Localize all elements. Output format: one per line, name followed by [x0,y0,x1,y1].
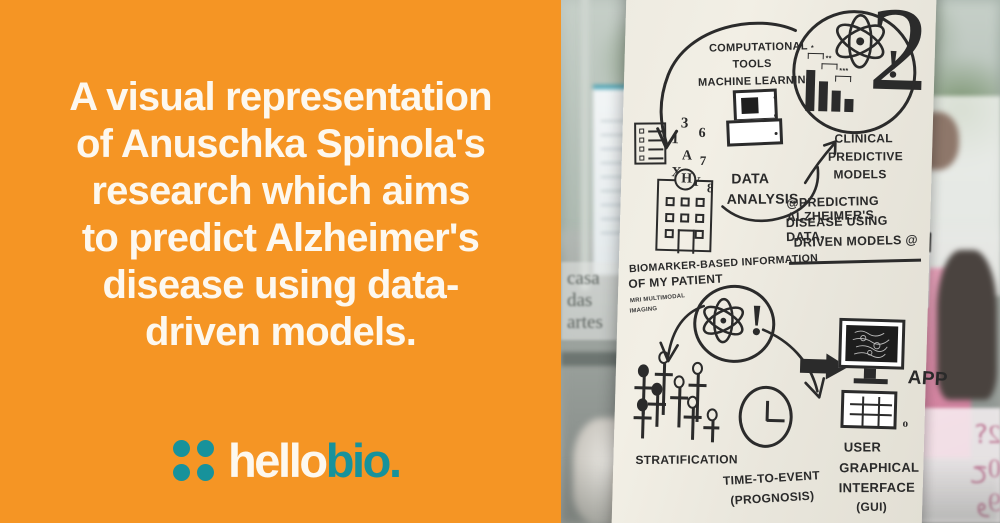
glyph-1: 1 [671,131,679,148]
bar-3 [831,91,841,112]
label-models: MODELS [833,168,886,182]
left-orange-panel: A visual representation of Anuschka Spin… [0,0,561,523]
four-dot-grid-icon [173,440,214,481]
label-computational-tools-line2: TOOLS [732,58,771,71]
glyph-6: 6 [698,126,705,142]
conference-photograph: casadasartes ؟2ح0و9 2 COMPUTATIONAL TO [561,0,1000,523]
laptop-dot-2 [774,114,777,117]
laptop-dot-3 [775,132,778,135]
glyph-A: A [682,148,693,164]
checklist-icon [634,122,666,164]
hellobio-logo[interactable]: hellobio. [173,432,400,488]
headline-line-2: of Anuschka Spinola's [18,121,543,168]
bar-1 [805,70,815,111]
logo-dot-2 [197,440,214,457]
label-prognosis: (PROGNOSIS) [730,490,815,508]
laptop-dot-1 [774,96,777,99]
tablet-icon [840,390,897,430]
label-gui-graphical: GRAPHICAL [839,461,919,476]
label-biomarker-line2: OF MY PATIENT [628,272,723,291]
label-computational-tools-line1: COMPUTATIONAL [709,40,808,55]
significance-bracket-3 [835,76,851,82]
label-stratification: STRATIFICATION [635,453,738,467]
window-frame [581,0,589,290]
label-gui-user: USER [844,440,881,455]
flipchart-poster: 2 COMPUTATIONAL TOOLS MACHINE LEARNING [611,0,936,523]
bar-4 [844,99,853,112]
social-card: A visual representation of Anuschka Spin… [0,0,1000,523]
label-biomarker-line1: BIOMARKER-BASED INFORMATION [629,253,819,276]
logo-dot-3 [173,464,190,481]
glyph-7: 7 [700,153,707,169]
monitor-base [854,378,888,384]
atom-icon [830,12,890,72]
glyph-3: 3 [681,115,689,132]
label-predictive: PREDICTIVE [828,150,903,164]
tablet-dot-glyph: o [902,418,908,430]
logo-text-hello: hello [228,437,326,484]
hospital-h-letter: H [681,171,692,187]
headline-line-1: A visual representation [18,74,543,121]
page-title: A visual representation of Anuschka Spin… [18,74,543,356]
logo-dot-4 [197,464,214,481]
monitor-icon [838,318,905,370]
label-app: APP [907,367,948,391]
label-gui-interface: INTERFACE [839,481,915,496]
clock-icon [738,385,794,448]
logo-text-bio: bio. [326,437,400,484]
label-biomarker-subnote-line2: IMAGING [629,305,657,316]
headline-line-3: research which aims [18,168,543,215]
bar-2 [818,81,828,111]
significance-mark-1: * [811,45,814,53]
brain-scan-image [845,325,898,362]
label-gui-abbrev: (GUI) [856,501,887,515]
logo-dot-1 [173,440,190,457]
label-time-to-event: TIME-TO-EVENT [723,469,821,488]
exclamation-icon: ! [886,47,900,81]
significance-bracket-1 [808,53,824,59]
laptop-icon [733,89,778,123]
monitor-neck [864,369,876,379]
curved-arrow-data-icon [716,162,828,245]
headline-line-4: to predict Alzheimer's [18,215,543,262]
headline-line-6: driven models. [18,309,543,356]
headline-line-5: disease using data- [18,262,543,309]
label-clinical: CLINICAL [834,132,892,146]
